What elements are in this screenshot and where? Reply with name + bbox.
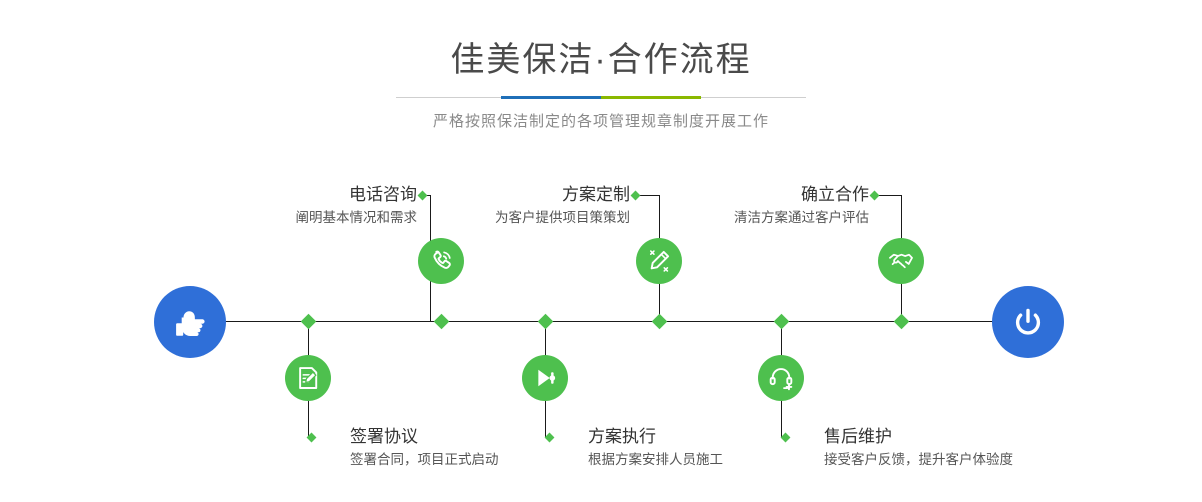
pencil-design-icon <box>645 247 673 275</box>
step-label-after-sales-maintenance: 售后维护接受客户反馈，提升客户体验度 <box>824 425 1013 471</box>
step-title: 签署协议 <box>350 425 499 449</box>
step-icon-establish-cooperation[interactable] <box>878 238 924 284</box>
flow-diagram-page: 佳美保洁·合作流程 严格按照保洁制定的各项管理规章制度开展工作 <box>0 0 1202 502</box>
step-description: 清洁方案通过客户评估 <box>734 207 869 229</box>
step-title: 售后维护 <box>824 425 1013 449</box>
step-icon-plan-execution[interactable] <box>522 355 568 401</box>
step-icon-sign-agreement[interactable] <box>285 355 331 401</box>
step-label-plan-customization: 方案定制为客户提供项目策策划 <box>495 183 630 229</box>
step-description: 接受客户反馈，提升客户体验度 <box>824 449 1013 471</box>
step-description: 为客户提供项目策策划 <box>495 207 630 229</box>
timeline-end-node[interactable] <box>992 286 1064 358</box>
phone-call-icon <box>427 247 455 275</box>
step-icon-plan-customization[interactable] <box>636 238 682 284</box>
step-description: 阐明基本情况和需求 <box>296 207 418 229</box>
step-title: 方案执行 <box>588 425 723 449</box>
power-icon <box>1008 302 1048 342</box>
step-description: 根据方案安排人员施工 <box>588 449 723 471</box>
step-icon-phone-consultation[interactable] <box>418 238 464 284</box>
step-label-establish-cooperation: 确立合作清洁方案通过客户评估 <box>734 183 869 229</box>
handshake-icon <box>887 247 915 275</box>
timeline-start-node[interactable] <box>154 286 226 358</box>
step-title: 电话咨询 <box>296 183 418 207</box>
step-description: 签署合同，项目正式启动 <box>350 449 499 471</box>
play-execute-icon <box>531 364 559 392</box>
step-label-phone-consultation: 电话咨询阐明基本情况和需求 <box>296 183 418 229</box>
step-label-sign-agreement: 签署协议签署合同，项目正式启动 <box>350 425 499 471</box>
pointing-hand-icon <box>170 302 210 342</box>
step-title: 确立合作 <box>734 183 869 207</box>
headset-support-icon <box>767 364 795 392</box>
document-pen-icon <box>294 364 322 392</box>
step-icon-after-sales-maintenance[interactable] <box>758 355 804 401</box>
step-title: 方案定制 <box>495 183 630 207</box>
step-label-plan-execution: 方案执行根据方案安排人员施工 <box>588 425 723 471</box>
